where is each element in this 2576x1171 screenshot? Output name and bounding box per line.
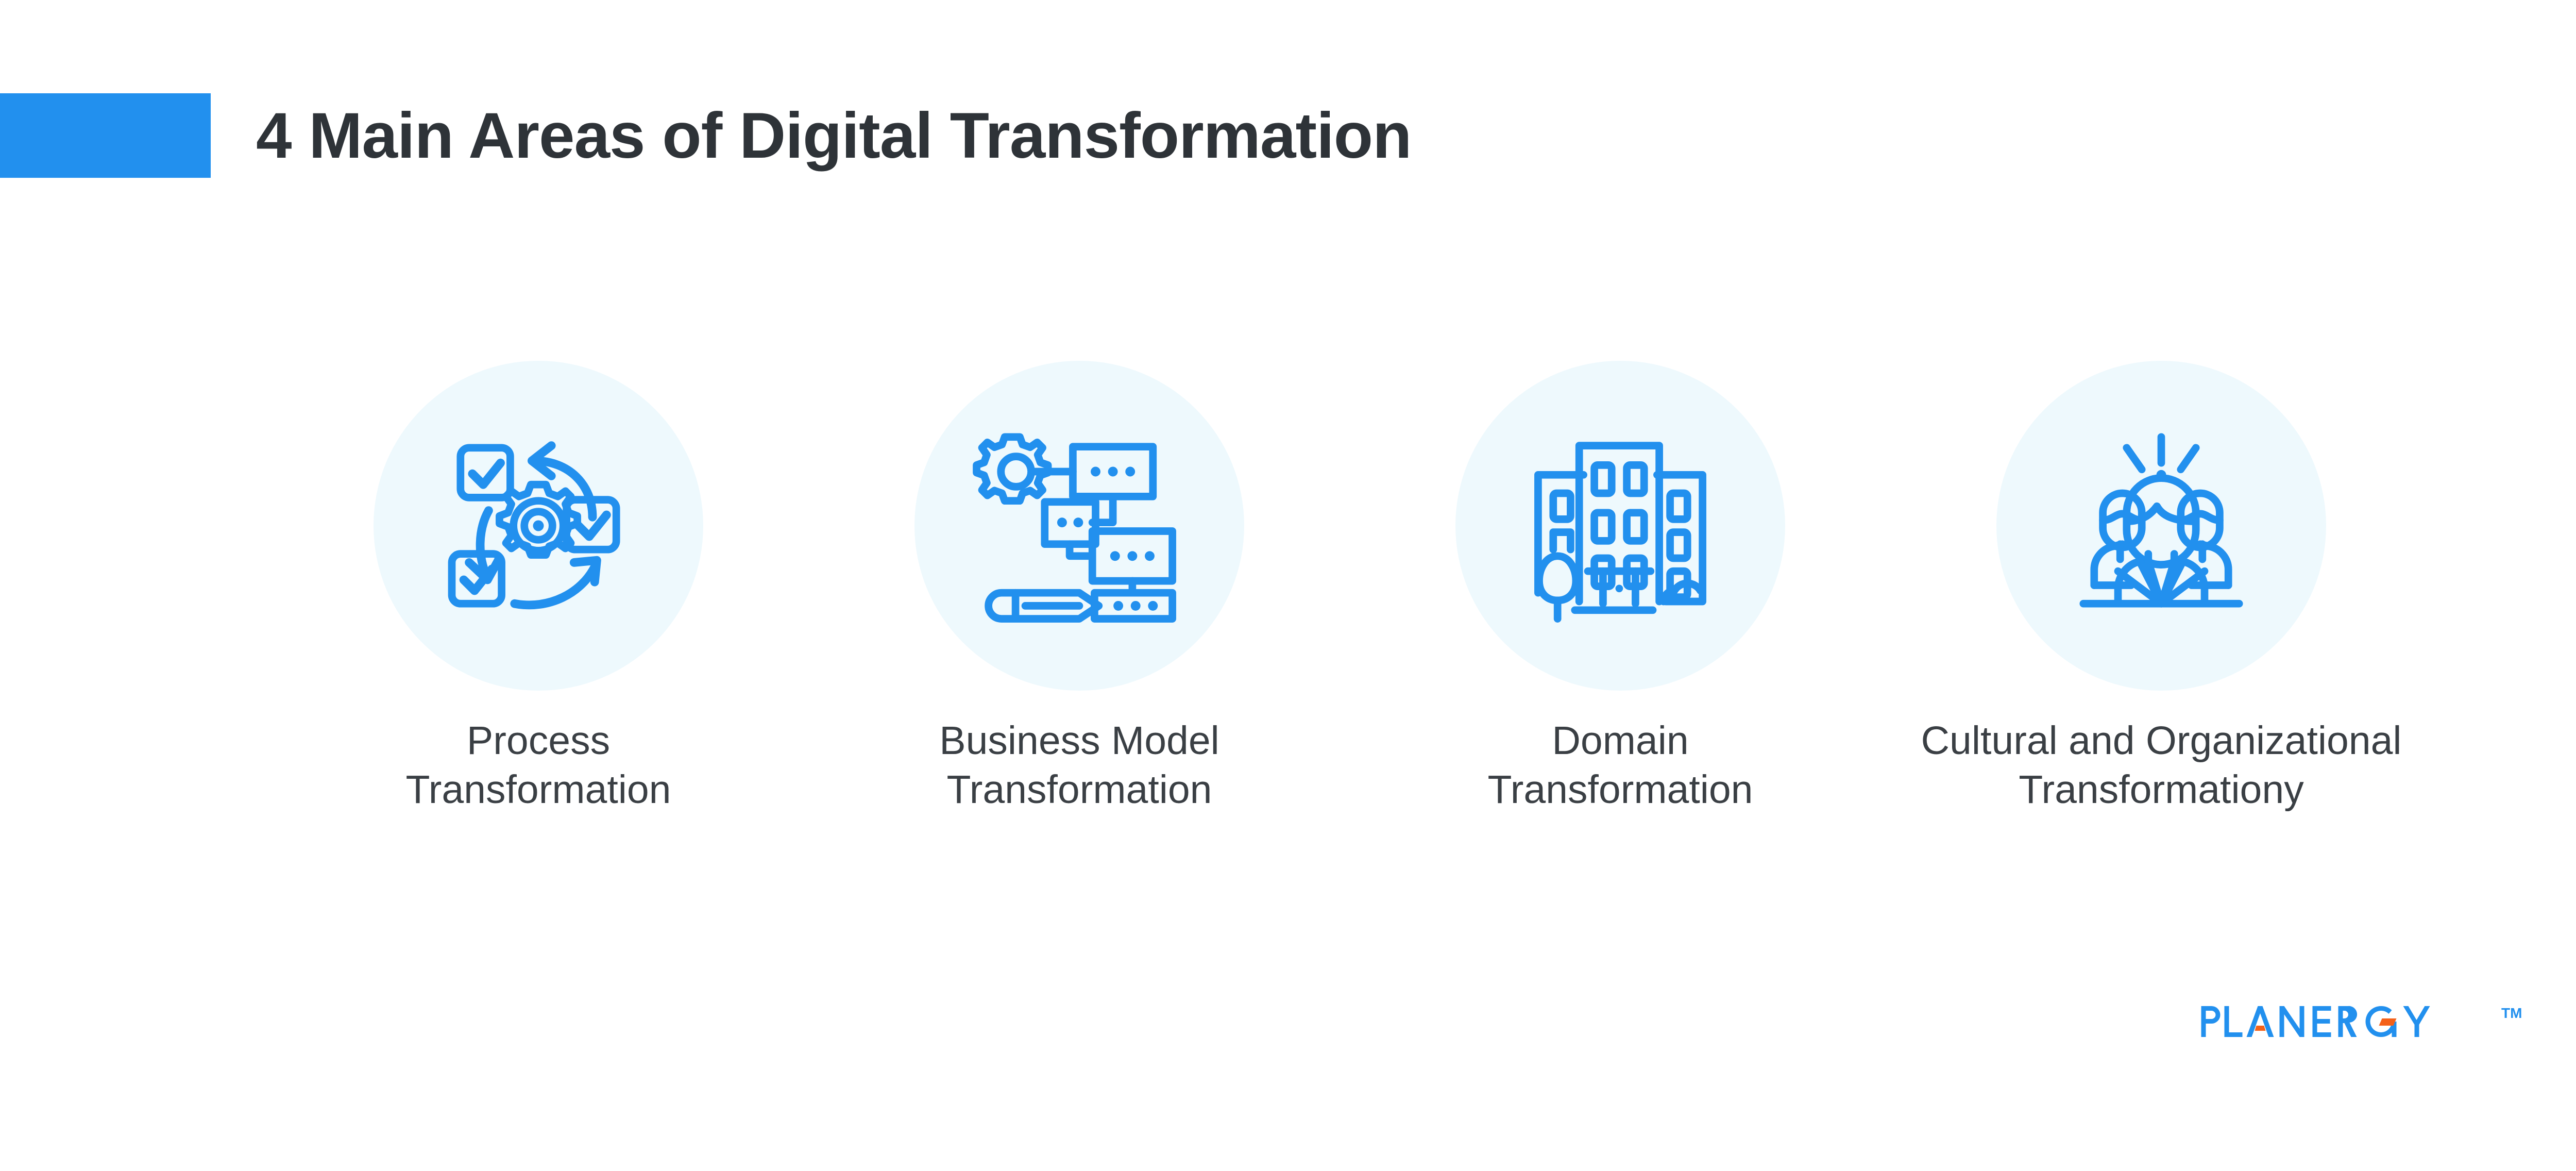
card-label: Domain Transformation — [1488, 716, 1753, 815]
card-cultural-organizational-transformation: Cultural and Organizational Transformati… — [1891, 361, 2432, 815]
business-model-flowchart-gear-pencil-icon — [971, 417, 1188, 634]
infographic-canvas: 4 Main Areas of Digital Transformation — [0, 0, 2576, 1171]
icon-circle — [1455, 361, 1785, 691]
card-process-transformation: Process Transformation — [268, 361, 809, 815]
card-label: Business Model Transformation — [939, 716, 1219, 815]
cards-row: Process Transformation — [268, 361, 2432, 815]
icon-circle — [374, 361, 703, 691]
icon-circle — [1996, 361, 2326, 691]
process-cycle-gear-checkboxes-icon — [430, 417, 647, 634]
card-label: Process Transformation — [406, 716, 671, 815]
city-buildings-domain-icon — [1512, 417, 1728, 634]
planergy-wordmark-icon — [2133, 1005, 2496, 1038]
header: 4 Main Areas of Digital Transformation — [0, 92, 2576, 179]
icon-circle — [914, 361, 1244, 691]
trademark-symbol: TM — [2501, 1006, 2522, 1021]
card-label: Cultural and Organizational Transformati… — [1921, 716, 2401, 815]
planergy-logo: TM — [2133, 1005, 2522, 1038]
team-people-idea-icon — [2053, 417, 2269, 634]
card-domain-transformation: Domain Transformation — [1350, 361, 1891, 815]
accent-bar — [0, 93, 211, 178]
page-title: 4 Main Areas of Digital Transformation — [256, 104, 1412, 168]
card-business-model-transformation: Business Model Transformation — [809, 361, 1350, 815]
